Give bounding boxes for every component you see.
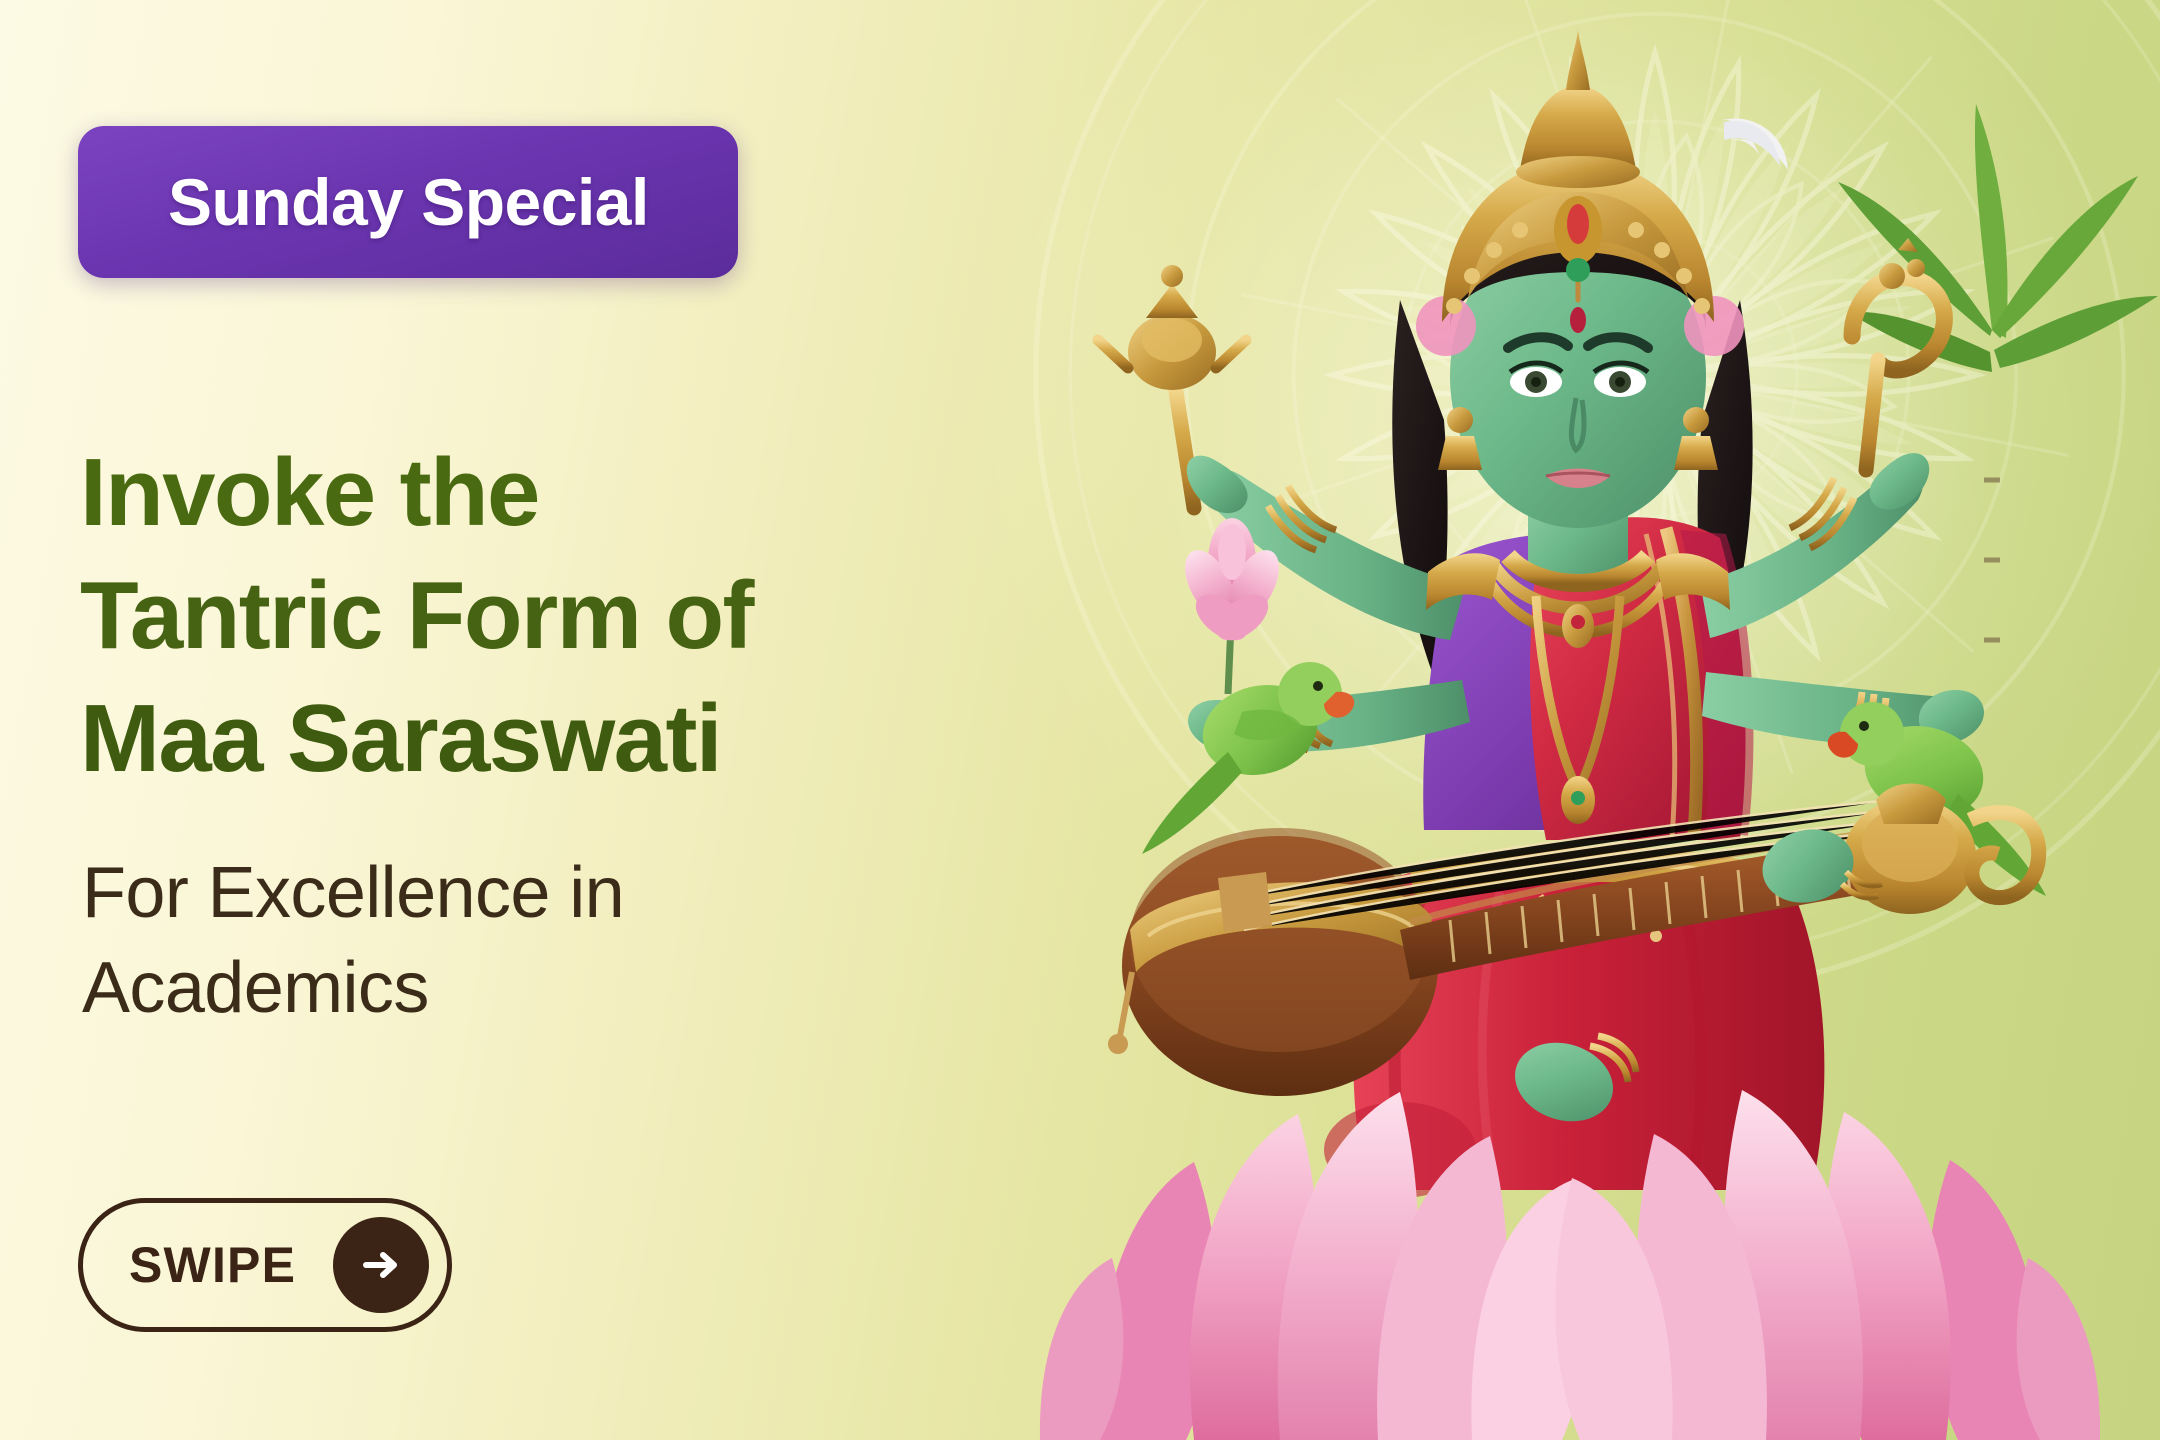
headline-line-3: Maa Saraswati [80, 678, 980, 801]
headline-line-2: Tantric Form of [80, 555, 980, 678]
promo-banner: Sunday Special Invoke the Tantric Form o… [0, 0, 2160, 1440]
page-subtitle: For Excellence in Academics [82, 846, 902, 1036]
sunday-special-badge[interactable]: Sunday Special [78, 126, 738, 278]
goddess-saraswati-illustration [980, 0, 2160, 1440]
content-column: Sunday Special Invoke the Tantric Form o… [78, 0, 1038, 1440]
subheadline-line-2: Academics [82, 941, 902, 1036]
page-title: Invoke the Tantric Form of Maa Saraswati [80, 432, 980, 801]
subheadline-line-1: For Excellence in [82, 846, 902, 941]
badge-label: Sunday Special [168, 164, 649, 240]
headline-line-1: Invoke the [80, 432, 980, 555]
